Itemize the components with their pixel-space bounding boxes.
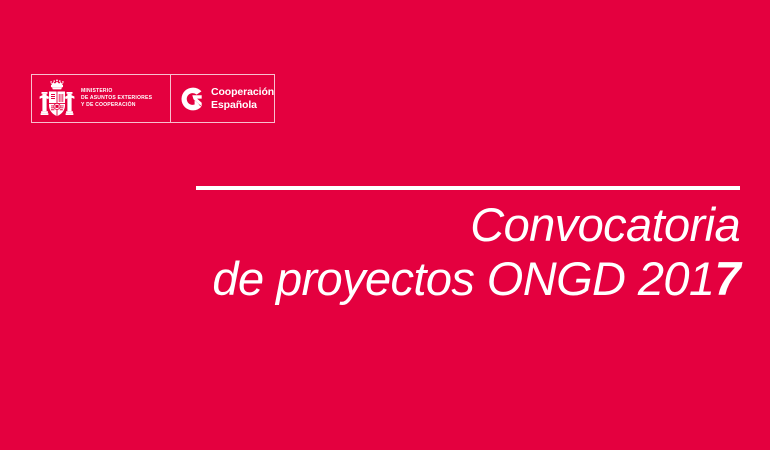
ministry-line-1: MINISTERIO	[81, 88, 152, 95]
headline-line-1: Convocatoria	[0, 198, 740, 252]
cooperation-line-2: Española	[211, 99, 274, 111]
cooperation-logo-block: Cooperación Española	[171, 75, 274, 122]
cooperation-wordmark: Cooperación Española	[211, 86, 274, 111]
poster-canvas: MINISTERIO DE ASUNTOS EXTERIORES Y DE CO…	[0, 0, 770, 450]
ministry-wordmark: MINISTERIO DE ASUNTOS EXTERIORES Y DE CO…	[81, 88, 152, 110]
headline-rule	[196, 186, 740, 190]
institutional-logo-lockup: MINISTERIO DE ASUNTOS EXTERIORES Y DE CO…	[31, 74, 275, 123]
cooperacion-espanola-c-mark-icon	[178, 86, 204, 112]
spanish-coat-of-arms-icon	[38, 78, 76, 120]
headline-year-accent: 7	[714, 252, 740, 305]
poster-headline: Convocatoria de proyectos ONGD 2017	[0, 198, 740, 305]
ministry-logo-block: MINISTERIO DE ASUNTOS EXTERIORES Y DE CO…	[32, 75, 170, 122]
ministry-line-3: Y DE COOPERACIÓN	[81, 102, 152, 109]
headline-line-2-text: de proyectos ONGD 201	[212, 252, 714, 305]
cooperation-line-1: Cooperación	[211, 86, 274, 98]
headline-line-2: de proyectos ONGD 2017	[0, 252, 740, 306]
